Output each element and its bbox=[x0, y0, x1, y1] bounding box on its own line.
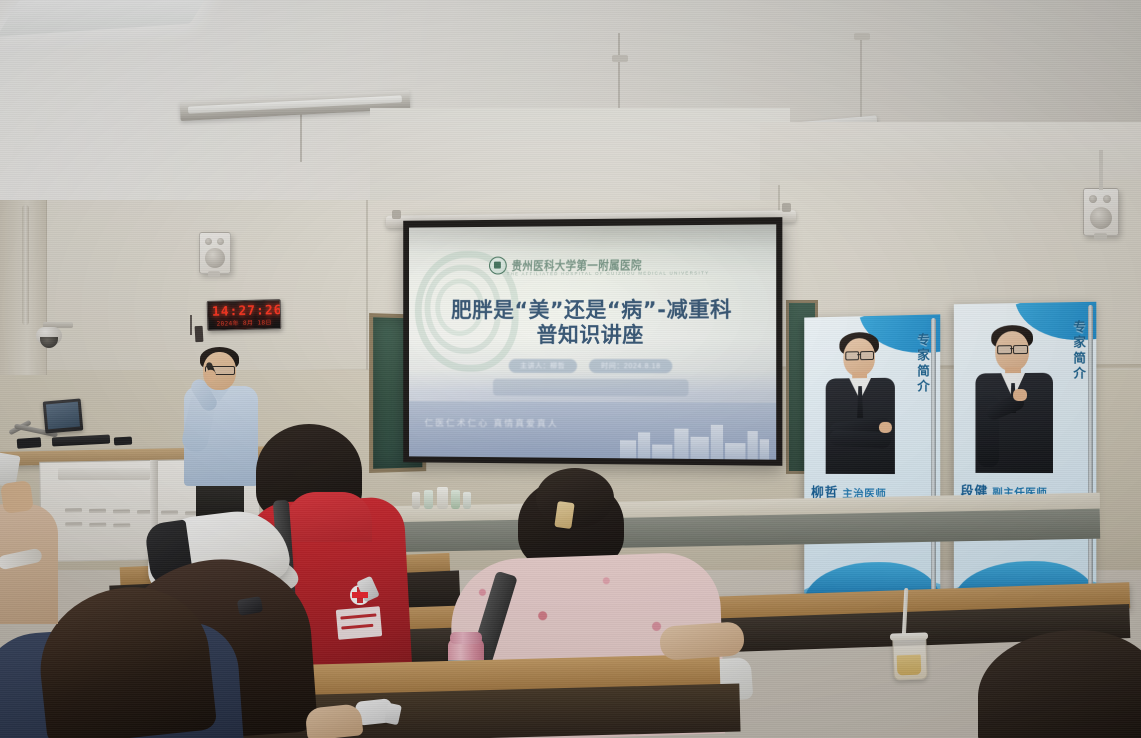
lectern-equipment-1 bbox=[17, 437, 42, 449]
expert-banner-left: 专家简介 柳哲主治医师 柳哲，男，主治医师，贵州医科大学第一附属医院减重代谢外科… bbox=[804, 314, 940, 605]
skyline-building-4 bbox=[674, 429, 688, 459]
wall-seam-1 bbox=[366, 200, 368, 375]
lectern-vent-5 bbox=[161, 511, 178, 515]
led-clock-cable bbox=[190, 315, 192, 335]
skyline-building-7 bbox=[725, 443, 745, 459]
light-mount-3 bbox=[854, 33, 870, 40]
led-clock-date: 2024年 8月 18日 星期日 bbox=[212, 317, 276, 331]
lectern-equipment-2 bbox=[114, 437, 132, 446]
skyline-building-3 bbox=[652, 444, 672, 458]
slide-title: 肥胖是“美”还是“病”-减重科 普知识讲座 bbox=[423, 297, 762, 347]
lectern-monitor-screen bbox=[46, 402, 80, 430]
slide-title-line1: 肥胖是“美”还是“病”-减重科 bbox=[423, 297, 762, 323]
bottle-4 bbox=[451, 490, 460, 509]
speaker-tweeter-left-2 bbox=[217, 238, 224, 245]
hand-on-desk-1 bbox=[304, 703, 363, 738]
portrait-right-hand bbox=[1013, 389, 1027, 401]
audience-left-hand bbox=[0, 480, 34, 514]
slide-title-line2: 普知识讲座 bbox=[423, 323, 762, 348]
thermos-cap bbox=[450, 632, 482, 644]
lectern-monitor bbox=[43, 398, 84, 433]
slide-skyline-graphic bbox=[618, 412, 770, 459]
wall-speaker-left bbox=[199, 232, 231, 274]
portrait-left-glasses-icon-2 bbox=[860, 351, 874, 360]
red-jacket-text-patch bbox=[336, 606, 382, 640]
slide-speaker-pill: 主讲人：柳哲 bbox=[508, 359, 577, 373]
skyline-building-1 bbox=[620, 440, 636, 458]
drink-cup-lid bbox=[890, 632, 928, 640]
portrait-left-glasses-icon bbox=[845, 351, 859, 360]
drink-cup-contents bbox=[897, 655, 922, 676]
speaker-bracket-left bbox=[208, 271, 220, 277]
audience-red-jacket-shoulder bbox=[286, 492, 372, 542]
lectern-vent-2 bbox=[89, 509, 106, 513]
speaker-conduit-right bbox=[1099, 150, 1103, 190]
speaker-woofer-left bbox=[205, 248, 225, 268]
hospital-logo-icon bbox=[489, 257, 507, 275]
wall-speaker-right bbox=[1083, 188, 1119, 236]
bottle-3 bbox=[437, 487, 448, 509]
screen-clip-right bbox=[782, 203, 791, 212]
portrait-left-hand bbox=[879, 422, 892, 433]
lectern-vent-7 bbox=[65, 522, 82, 526]
bottle-2 bbox=[424, 490, 433, 509]
portrait-right-glasses-icon-2 bbox=[1013, 345, 1028, 354]
bottle-1 bbox=[412, 492, 420, 509]
portrait-right-glasses-icon bbox=[997, 345, 1012, 354]
slide-subtitle-bar bbox=[493, 379, 689, 397]
presentation-slide: 贵州医科大学第一附属医院 THE AFFILIATED HOSPITAL OF … bbox=[409, 224, 776, 459]
wall-pipe bbox=[22, 205, 29, 325]
portrait-left-glasses-bridge bbox=[857, 354, 860, 355]
skyline-building-5 bbox=[691, 437, 709, 459]
speaker-tweeter-left bbox=[205, 238, 212, 245]
lectern-vent-8 bbox=[89, 523, 106, 527]
lectern-drawer bbox=[58, 468, 150, 480]
lectern-vent-1 bbox=[65, 508, 82, 512]
portrait-right-glasses-bridge bbox=[1010, 348, 1013, 349]
skyline-building-8 bbox=[748, 431, 758, 459]
patch-text-line-2 bbox=[341, 624, 373, 630]
lectern-vent-9 bbox=[113, 523, 130, 527]
skyline-building-9 bbox=[760, 439, 769, 459]
hair-clip-accessory bbox=[554, 501, 574, 529]
banner-right-pole bbox=[1088, 305, 1093, 605]
audience-right-foreground-head bbox=[978, 630, 1141, 738]
hospital-name-english: THE AFFILIATED HOSPITAL OF GUIZHOU MEDIC… bbox=[507, 270, 710, 276]
speaker-bracket-right bbox=[1094, 233, 1107, 240]
audience-hair-bun bbox=[536, 468, 614, 528]
speaker-tweeter-right bbox=[1089, 195, 1097, 203]
led-clock-stand bbox=[195, 326, 204, 342]
slide-meta-row: 主讲人：柳哲 时间：2024.8.18 bbox=[409, 359, 776, 374]
screen-clip-left bbox=[392, 210, 401, 219]
slide-tagline: 仁医仁术仁心 真情真爱真人 bbox=[425, 416, 559, 430]
projection-screen: 贵州医科大学第一附属医院 THE AFFILIATED HOSPITAL OF … bbox=[403, 217, 782, 466]
skyline-building-6 bbox=[711, 425, 723, 459]
speaker-tweeter-right-2 bbox=[1103, 195, 1111, 203]
lecture-hall-photo: 14:27:26 2024年 8月 18日 星期日 贵州医科大学第一附属医院 T… bbox=[0, 0, 1141, 738]
bottle-5 bbox=[463, 492, 471, 509]
expert-banner-right: 专家简介 段健副主任医师 段健，男，副主任医师，贵州医科大学第一附属医院胃肠外科… bbox=[954, 302, 1096, 604]
light-mount-2 bbox=[612, 55, 628, 62]
slide-date-pill: 时间：2024.8.18 bbox=[589, 359, 673, 373]
forearm-on-desk bbox=[659, 621, 745, 661]
wall-soffit-left bbox=[370, 108, 790, 206]
lectern-vent-3 bbox=[113, 509, 130, 513]
patch-text-line-1 bbox=[340, 613, 376, 619]
skyline-building-2 bbox=[638, 432, 650, 458]
speaker-woofer-right bbox=[1090, 207, 1112, 229]
led-clock-display: 14:27:26 2024年 8月 18日 星期日 bbox=[207, 299, 282, 331]
